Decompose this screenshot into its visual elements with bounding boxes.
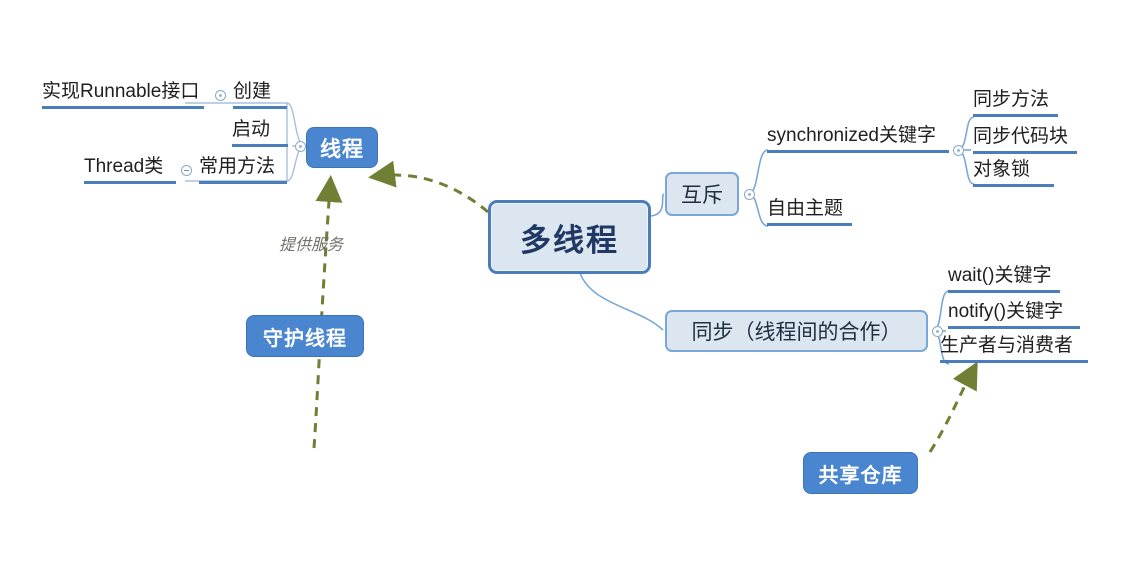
- node-leaf-thread-class[interactable]: Thread类: [84, 157, 176, 186]
- underline: [767, 223, 852, 226]
- node-daemon-thread[interactable]: 守护线程: [246, 315, 364, 357]
- node-mutex-child-synchronized-label: synchronized关键字: [767, 125, 936, 146]
- node-thread-child-common-methods-label: 常用方法: [199, 156, 275, 177]
- node-mutex-child-free-topic[interactable]: 自由主题: [767, 199, 852, 228]
- node-thread-child-create-label: 创建: [233, 81, 271, 102]
- node-thread-child-common-methods[interactable]: 常用方法: [199, 157, 287, 186]
- relation-label-provide-service: 提供服务: [279, 231, 343, 255]
- underline: [767, 150, 949, 153]
- node-leaf-producer-consumer[interactable]: 生产者与消费者: [940, 336, 1088, 365]
- node-leaf-producer-consumer-label: 生产者与消费者: [940, 335, 1073, 356]
- toggle-create-collapse-icon[interactable]: [215, 90, 226, 101]
- node-leaf-notify-keyword-label: notify()关键字: [948, 301, 1063, 322]
- node-leaf-sync-block-label: 同步代码块: [973, 126, 1068, 147]
- node-leaf-implement-runnable-label: 实现Runnable接口: [42, 81, 199, 102]
- node-daemon-thread-label: 守护线程: [263, 322, 347, 351]
- node-leaf-thread-class-label: Thread类: [84, 156, 163, 177]
- underline: [973, 151, 1077, 154]
- wire-root-to-mutex: [651, 194, 664, 216]
- wire-root-to-sync: [580, 273, 663, 330]
- underline: [199, 181, 287, 184]
- root-node-multithreading[interactable]: 多线程: [488, 200, 651, 274]
- underline: [940, 360, 1088, 363]
- underline: [233, 106, 287, 109]
- underline: [232, 144, 288, 147]
- underline: [948, 326, 1080, 329]
- node-thread-child-create[interactable]: 创建: [233, 82, 287, 111]
- node-sync-cooperation[interactable]: 同步（线程间的合作）: [665, 310, 928, 352]
- node-mutex-child-free-topic-label: 自由主题: [767, 198, 843, 219]
- root-node-label: 多线程: [520, 215, 619, 260]
- node-leaf-wait-keyword-label: wait()关键字: [948, 265, 1051, 286]
- node-leaf-object-lock[interactable]: 对象锁: [973, 160, 1054, 189]
- underline: [973, 114, 1058, 117]
- node-leaf-sync-method-label: 同步方法: [973, 89, 1049, 110]
- node-thread-child-start[interactable]: 启动: [232, 120, 288, 149]
- toggle-mutex-collapse-icon[interactable]: [744, 189, 755, 200]
- toggle-common-methods-collapse-icon[interactable]: [181, 165, 192, 176]
- wire-sync-leaf-1: [932, 291, 949, 331]
- node-thread[interactable]: 线程: [306, 127, 378, 168]
- underline: [84, 181, 176, 184]
- node-mutex-child-synchronized[interactable]: synchronized关键字: [767, 126, 949, 155]
- mindmap-canvas: 多线程 线程 创建 实现Runnable接口 启动 常用方法 Thread类 互…: [0, 0, 1148, 562]
- node-leaf-notify-keyword[interactable]: notify()关键字: [948, 302, 1080, 331]
- relation-arrow-warehouse-to-producer: [930, 372, 972, 452]
- underline: [973, 184, 1054, 187]
- wire-thread-branch-1: [287, 103, 305, 146]
- node-leaf-sync-method[interactable]: 同步方法: [973, 90, 1058, 119]
- wire-mutex-to-synchronized: [748, 150, 768, 194]
- node-sync-cooperation-label: 同步（线程间的合作）: [692, 316, 902, 346]
- node-shared-warehouse-label: 共享仓库: [819, 459, 903, 488]
- node-leaf-implement-runnable[interactable]: 实现Runnable接口: [42, 82, 204, 111]
- underline: [948, 290, 1060, 293]
- node-shared-warehouse[interactable]: 共享仓库: [803, 452, 918, 494]
- node-leaf-sync-block[interactable]: 同步代码块: [973, 127, 1077, 156]
- node-mutex-label: 互斥: [681, 179, 723, 209]
- node-leaf-object-lock-label: 对象锁: [973, 159, 1030, 180]
- node-mutex[interactable]: 互斥: [665, 172, 739, 216]
- toggle-thread-collapse-icon[interactable]: [295, 141, 306, 152]
- relation-arrow-root-to-thread: [380, 175, 488, 212]
- relation-label-provide-service-text: 提供服务: [279, 237, 343, 254]
- node-leaf-wait-keyword[interactable]: wait()关键字: [948, 266, 1060, 295]
- toggle-synchronized-collapse-icon[interactable]: [953, 145, 964, 156]
- node-thread-label: 线程: [320, 133, 364, 163]
- underline: [42, 106, 204, 109]
- node-thread-child-start-label: 启动: [232, 119, 270, 140]
